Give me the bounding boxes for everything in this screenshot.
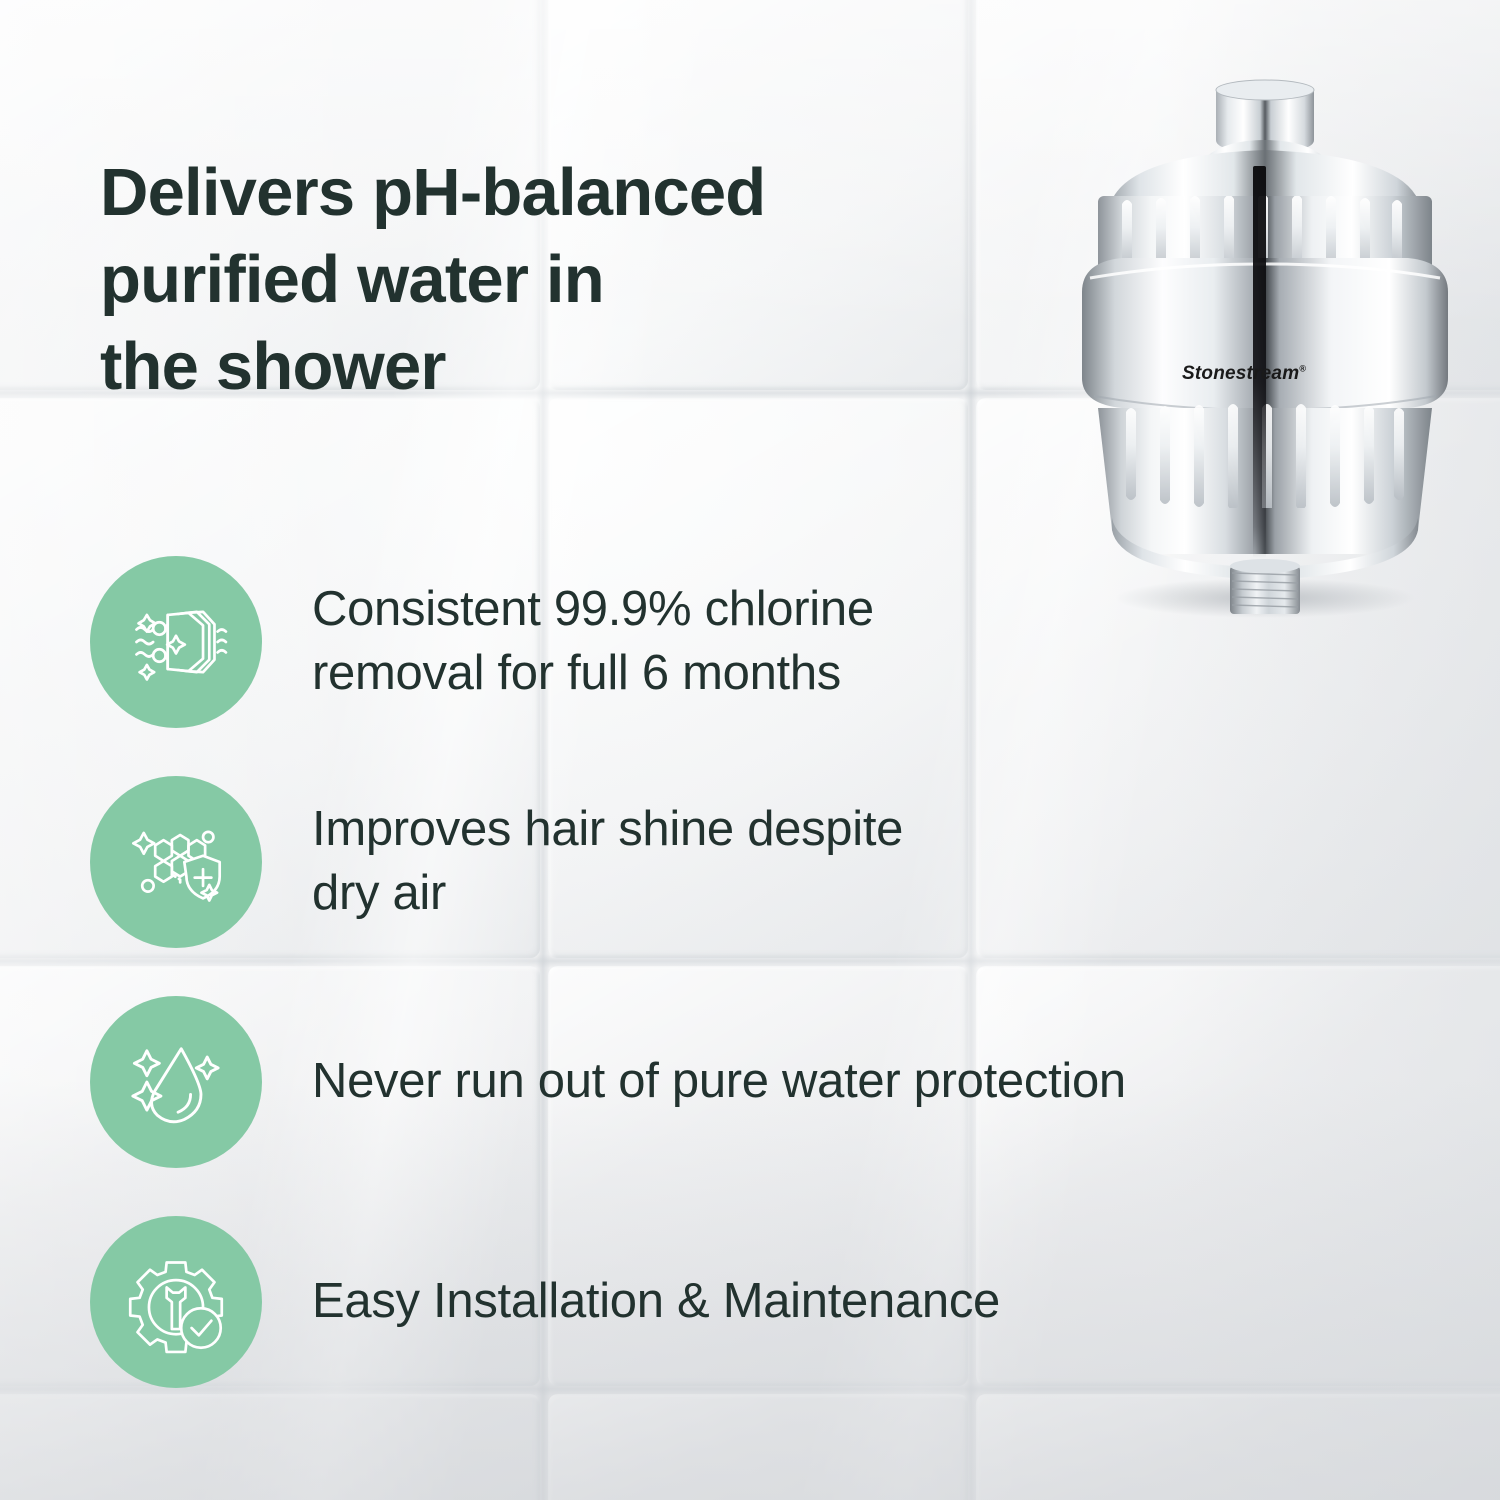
feature-label: Improves hair shine despite dry air: [312, 768, 1442, 956]
brand-registered-symbol: ®: [1299, 364, 1306, 374]
feature-item: Never run out of pure water protection: [0, 988, 1500, 1208]
product-specular-seam: [1253, 166, 1266, 558]
feature-item: Easy Installation & Maintenance: [0, 1208, 1500, 1428]
feature-icon-badge: [90, 996, 262, 1168]
feature-icon-badge: [90, 1216, 262, 1388]
feature-label: Never run out of pure water protection: [312, 988, 1442, 1176]
feature-item: Improves hair shine despite dry air: [0, 768, 1500, 988]
product-brand-label: Stonestream®: [1182, 363, 1306, 385]
product-feature-poster: Stonestream® Delivers pH-balanced purifi…: [0, 0, 1500, 1500]
water-droplet-sparkle-icon: [124, 1030, 228, 1134]
brand-name: Stonestream: [1182, 363, 1299, 384]
feature-icon-badge: [90, 776, 262, 948]
filter-layers-icon: [124, 590, 228, 694]
molecule-shield-icon: [124, 810, 228, 914]
feature-icon-badge: [90, 556, 262, 728]
feature-label: Consistent 99.9% chlorine removal for fu…: [312, 548, 1442, 736]
feature-item: Consistent 99.9% chlorine removal for fu…: [0, 548, 1500, 768]
product-image-shower-filter: Stonestream®: [1070, 78, 1460, 623]
gear-wrench-check-icon: [124, 1250, 228, 1354]
feature-label: Easy Installation & Maintenance: [312, 1208, 1442, 1396]
page-title: Delivers pH-balanced purified water in t…: [100, 149, 1000, 410]
feature-list: Consistent 99.9% chlorine removal for fu…: [0, 548, 1500, 1428]
